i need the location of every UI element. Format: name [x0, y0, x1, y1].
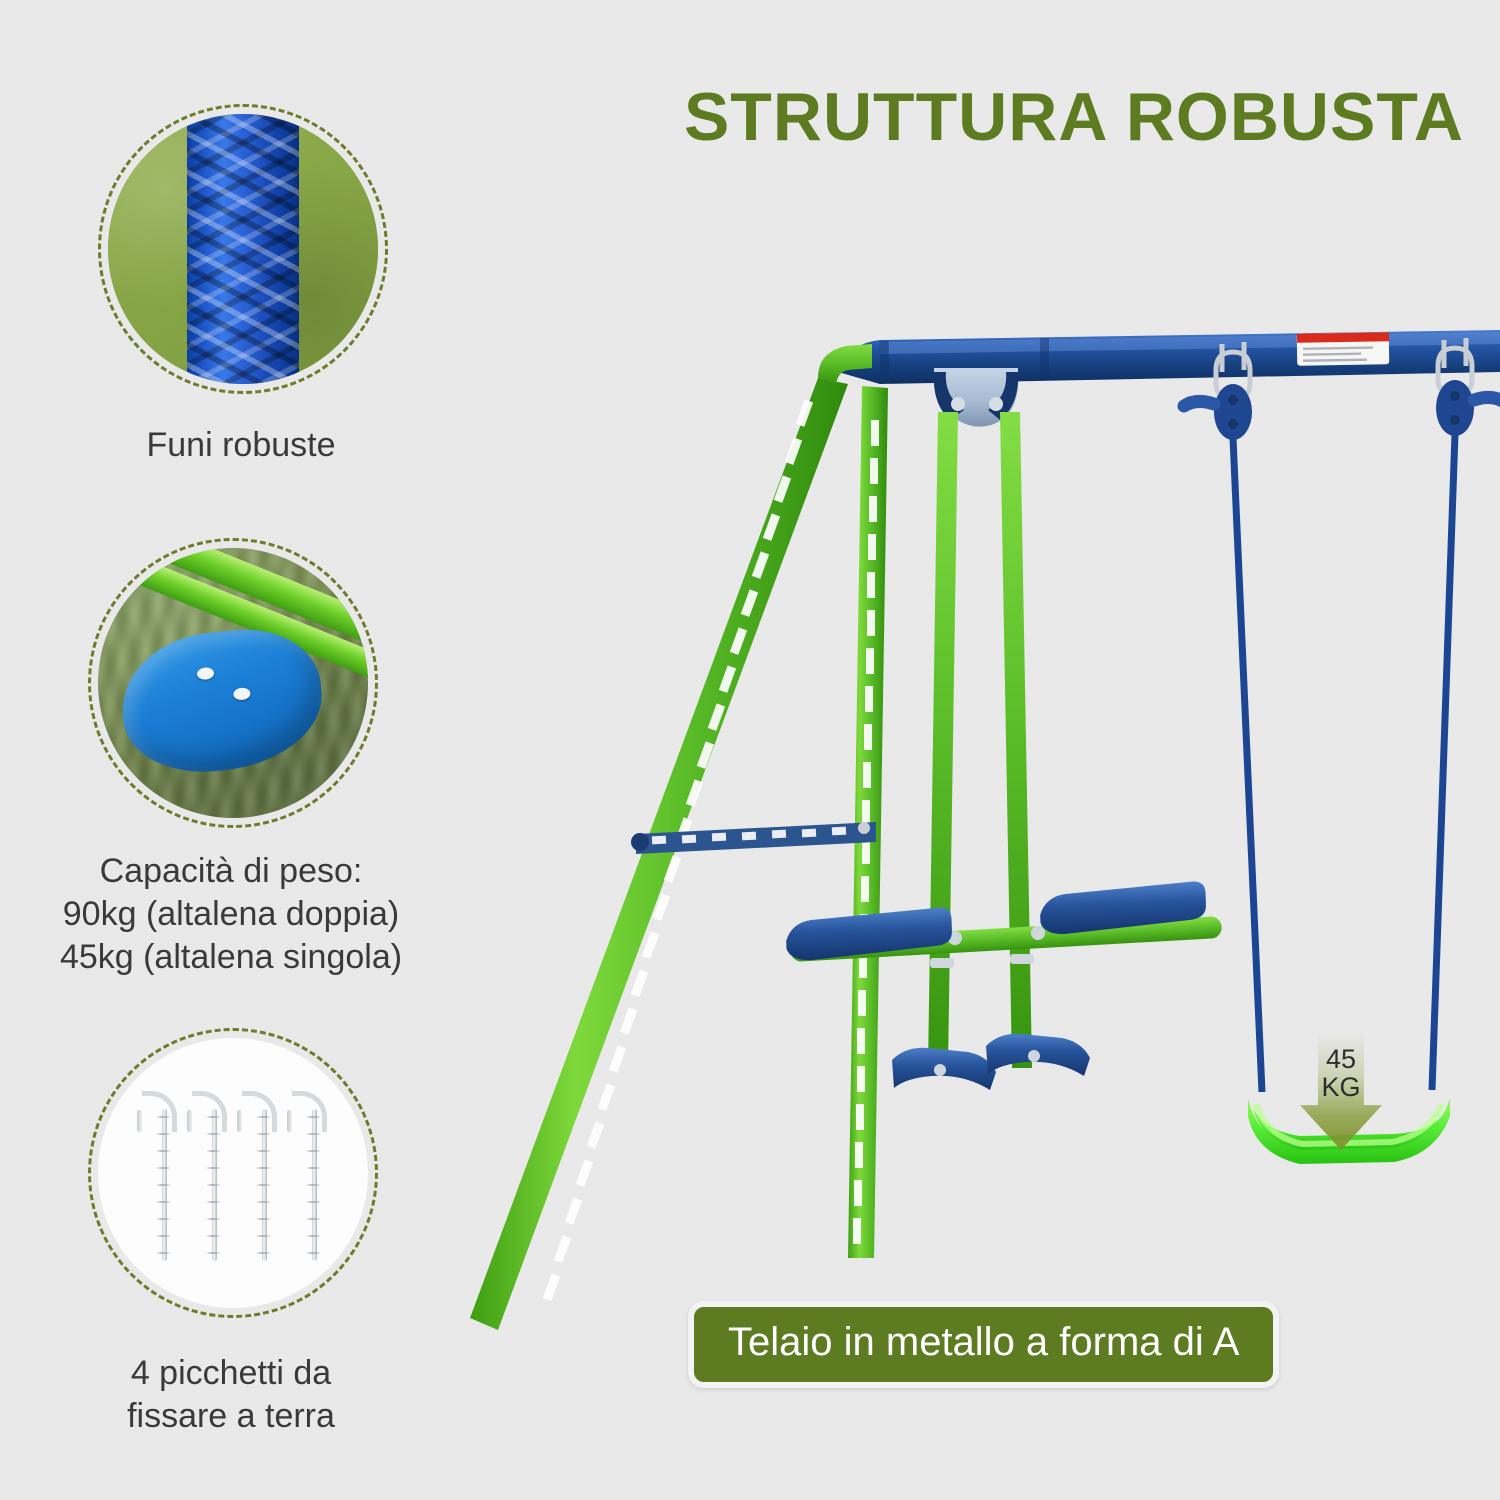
caption-line: 90kg (altalena doppia)	[0, 893, 466, 936]
feature-stakes: 4 picchetti da fissare a terra	[88, 1028, 378, 1318]
warning-sticker	[1297, 332, 1390, 366]
stake-icon	[310, 1093, 318, 1263]
caption-line: fissare a terra	[0, 1395, 466, 1438]
rope-hanger	[1184, 338, 1500, 1092]
braided-rope-photo	[108, 114, 378, 384]
feature-rope: Funi robuste	[98, 104, 388, 394]
glider-footrest	[892, 1034, 1090, 1090]
rivet-icon	[233, 687, 251, 701]
caption-line: Funi robuste	[6, 424, 476, 467]
caption-line: 4 picchetti da	[0, 1352, 466, 1395]
feature-rope-caption: Funi robuste	[6, 424, 476, 467]
rope-icon	[187, 114, 299, 384]
feature-seat: Capacità di peso: 90kg (altalena doppia)…	[88, 538, 378, 828]
blue-swing-seat-photo	[98, 548, 368, 818]
glider-seat	[785, 368, 1222, 1090]
rivet-icon	[196, 667, 214, 681]
stake-icon	[210, 1093, 218, 1263]
stake-icon	[160, 1093, 168, 1263]
a-frame-leg-right	[848, 386, 888, 1258]
feature-stakes-caption: 4 picchetti da fissare a terra	[0, 1352, 466, 1438]
feature-rope-circle	[98, 104, 388, 394]
caption-line: Capacità di peso:	[0, 850, 466, 893]
frame-badge: Telaio in metallo a forma di A	[688, 1301, 1279, 1388]
caption-line: 45kg (altalena singola)	[0, 936, 466, 979]
feature-seat-caption: Capacità di peso: 90kg (altalena doppia)…	[0, 850, 466, 980]
feature-stakes-circle	[88, 1028, 378, 1318]
stake-icon	[260, 1093, 268, 1263]
infographic-canvas: STRUTTURA ROBUSTA	[0, 0, 1500, 1500]
feature-seat-circle	[88, 538, 378, 828]
ground-stakes-photo	[98, 1038, 368, 1308]
